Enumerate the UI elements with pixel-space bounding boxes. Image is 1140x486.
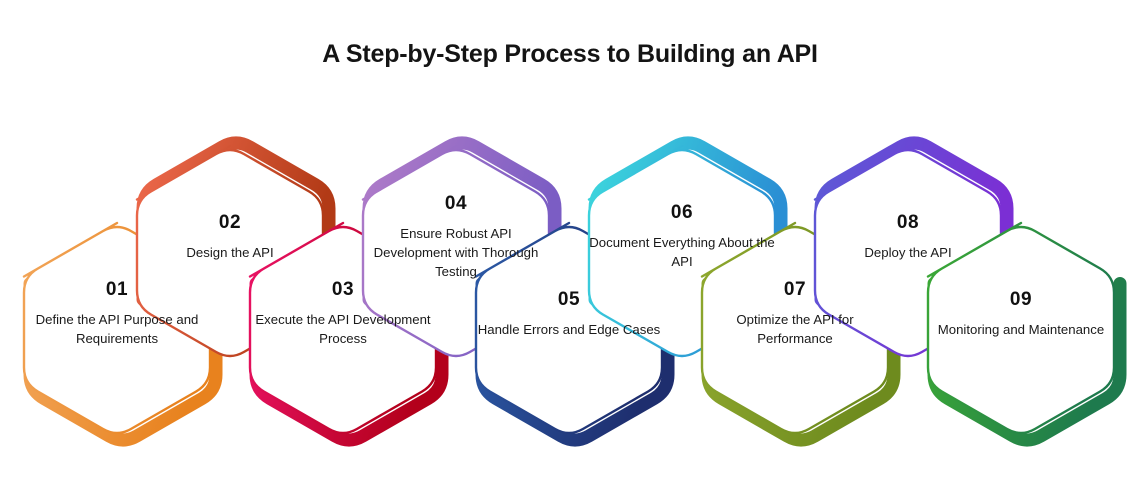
- step-number-09: 09: [926, 290, 1116, 309]
- step-label-09: Monitoring and Maintenance: [926, 320, 1116, 339]
- step-label-08: Deploy the API: [813, 243, 1003, 262]
- step-label-06: Document Everything About the API: [587, 233, 777, 271]
- step-number-01: 01: [22, 280, 212, 299]
- step-node-02[interactable]: 02Design the API: [135, 213, 325, 262]
- step-node-05[interactable]: 05Handle Errors and Edge Cases: [474, 290, 664, 339]
- step-number-07: 07: [700, 280, 890, 299]
- infographic-canvas: A Step-by-Step Process to Building an AP…: [0, 0, 1140, 486]
- step-node-06[interactable]: 06Document Everything About the API: [587, 203, 777, 271]
- step-number-08: 08: [813, 213, 1003, 232]
- step-node-07[interactable]: 07Optimize the API for Performance: [700, 280, 890, 348]
- step-label-05: Handle Errors and Edge Cases: [474, 320, 664, 339]
- hexagon-label-layer: 01Define the API Purpose and Requirement…: [0, 0, 1140, 486]
- step-label-02: Design the API: [135, 243, 325, 262]
- step-node-09[interactable]: 09Monitoring and Maintenance: [926, 290, 1116, 339]
- step-node-01[interactable]: 01Define the API Purpose and Requirement…: [22, 280, 212, 348]
- step-number-06: 06: [587, 203, 777, 222]
- process-diagram: 01Define the API Purpose and Requirement…: [0, 0, 1140, 486]
- step-label-01: Define the API Purpose and Requirements: [22, 310, 212, 348]
- step-number-04: 04: [361, 194, 551, 213]
- step-node-08[interactable]: 08Deploy the API: [813, 213, 1003, 262]
- step-number-02: 02: [135, 213, 325, 232]
- step-label-03: Execute the API Development Process: [248, 310, 438, 348]
- step-label-07: Optimize the API for Performance: [700, 310, 890, 348]
- step-node-04[interactable]: 04Ensure Robust API Development with Tho…: [361, 194, 551, 281]
- step-number-03: 03: [248, 280, 438, 299]
- step-number-05: 05: [474, 290, 664, 309]
- step-label-04: Ensure Robust API Development with Thoro…: [361, 224, 551, 281]
- step-node-03[interactable]: 03Execute the API Development Process: [248, 280, 438, 348]
